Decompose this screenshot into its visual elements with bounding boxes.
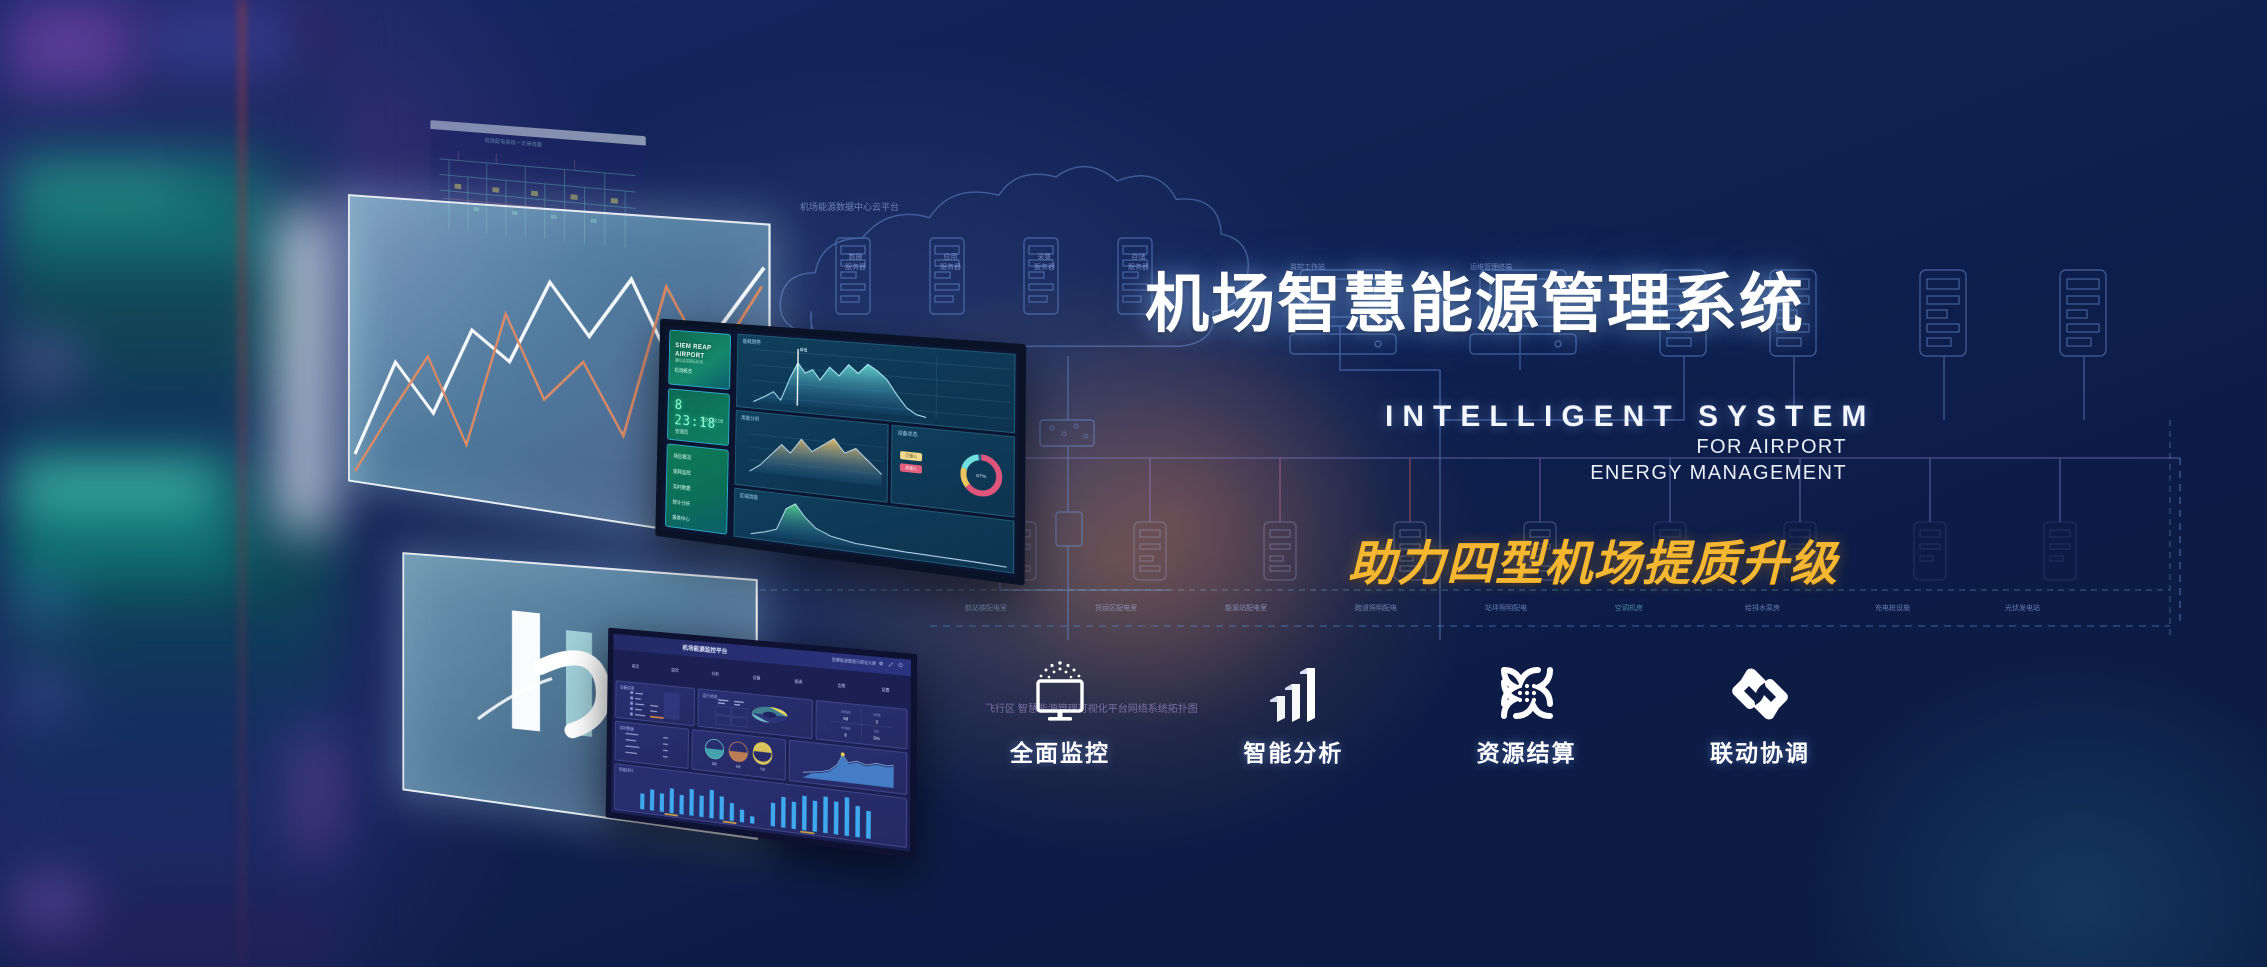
subtitle-english-main: INTELLIGENT SYSTEM: [1385, 400, 1875, 434]
bus-node-label: 跑道照明配电: [1355, 603, 1397, 613]
bar-chart-3d-icon: [1264, 660, 1322, 722]
header-actions-icon[interactable]: ⚙ ⤢ ⏻: [879, 661, 905, 669]
bus-node-label: 航站楼配电室: [965, 603, 1007, 613]
monitor-signal-icon: [1028, 660, 1092, 722]
feature-item-analysis[interactable]: 智能分析: [1193, 660, 1393, 768]
nav-item-0[interactable]: 首页: [632, 663, 639, 669]
brand-section-label: 机场概览: [675, 367, 693, 375]
subtitle-english-line2: FOR AIRPORT: [1696, 436, 1847, 459]
svg-text:同比: 同比: [874, 729, 880, 734]
svg-text:电耗: 电耗: [711, 761, 716, 766]
svg-text:8: 8: [844, 732, 847, 738]
nav-item-5[interactable]: 告警: [838, 683, 846, 690]
nav-item-4[interactable]: 报表: [795, 679, 803, 686]
svg-text:87%: 87%: [977, 472, 987, 479]
chart-panel-usage-analysis: 用能分析: [734, 410, 888, 503]
dashboard-purple-body: 首页 监控 分析 设备 报表 告警 设置 设备信息: [611, 649, 911, 851]
nav-item-2[interactable]: 分析: [712, 671, 720, 678]
svg-text:水耗: 水耗: [735, 764, 740, 769]
dashboard-sidebar: SIEM REAP AIRPORT 暹粒吴哥国际机场 机场概览 8 23:18 …: [661, 326, 734, 540]
card-device-info: 设备信息: [615, 680, 695, 726]
feature-label: 智能分析: [1243, 734, 1343, 768]
nav-item-3[interactable]: 设备: [753, 675, 761, 682]
feature-list: 全面监控 智能分析: [960, 660, 1860, 768]
slogan-text: 助力四型机场提质升级: [1348, 524, 1838, 594]
card-gauges: 电耗水耗气耗: [691, 729, 786, 780]
feature-item-settlement[interactable]: 资源结算: [1427, 660, 1627, 768]
sidebar-brand-card: SIEM REAP AIRPORT 暹粒吴哥国际机场 机场概览: [668, 330, 731, 390]
background-seam: [238, 0, 246, 967]
svg-text:3: 3: [875, 719, 878, 725]
feature-label: 全面监控: [1010, 734, 1110, 768]
svg-text:峰值: 峰值: [800, 347, 808, 353]
network-node-label: 采集 服务器: [1034, 252, 1055, 272]
chart-panel-device-status: 设备状态 已接入 未接入 87%: [891, 425, 1015, 518]
dashboard-screen-teal[interactable]: SIEM REAP AIRPORT 暹粒吴哥国际机场 机场概览 8 23:18 …: [655, 319, 1026, 586]
svg-text:5%: 5%: [873, 735, 880, 741]
card-realtime-list: 实时数据: [615, 721, 689, 769]
bus-node-label: 能源站配电室: [1225, 603, 1267, 613]
purple-header-title: 机场能源监控平台: [682, 643, 727, 656]
four-petal-dots-icon: [1498, 660, 1556, 722]
feature-item-monitoring[interactable]: 全面监控: [960, 660, 1160, 768]
network-cloud-label: 机场能源数据中心云平台: [800, 200, 899, 213]
svg-text:今日能耗: 今日能耗: [841, 725, 852, 730]
brand-subtitle: 暹粒吴哥国际机场: [675, 357, 703, 365]
purple-header-subtitle: 智慧能源管理可视化大屏: [832, 657, 876, 667]
menu-item-2[interactable]: 实时数据: [673, 483, 691, 492]
network-node-label: 应用 服务器: [940, 252, 961, 272]
sidebar-clock-card: 8 23:18 2024.03.08 管理员: [667, 388, 730, 446]
bus-node-label: 空调机房: [1615, 603, 1643, 613]
subtitle-english-line3: ENERGY MANAGEMENT: [1590, 462, 1847, 485]
sidebar-menu[interactable]: 场区概况 能耗监控 实时数据 统计分析 报表中心: [665, 443, 729, 534]
bus-node-label: 货运区配电室: [1095, 603, 1137, 613]
menu-item-0[interactable]: 场区概况: [673, 453, 691, 462]
bus-node-label: 光伏发电站: [2005, 603, 2040, 613]
interlocking-links-icon: [1729, 660, 1791, 722]
dashboard-main-area: 能耗趋势 峰值 用能分析: [731, 331, 1019, 578]
menu-item-3[interactable]: 统计分析: [672, 499, 690, 508]
nav-item-1[interactable]: 监控: [671, 667, 678, 674]
hero-banner: 机场能源数据中心云平台 数据 服务器 应用 服务器 采集 服务器 存储 服务器 …: [0, 0, 2267, 967]
feature-label: 联动协调: [1710, 734, 1810, 768]
bus-node-label: 给排水泵房: [1745, 603, 1780, 613]
current-user-label: 管理员: [675, 428, 688, 436]
card-kpi-grid: 在线设备告警数 今日能耗同比 683 85%: [815, 700, 907, 749]
feature-item-coordination[interactable]: 联动协调: [1660, 660, 1860, 768]
bus-node-label: 站坪照明配电: [1485, 603, 1527, 613]
svg-text:在线设备: 在线设备: [841, 709, 852, 714]
network-node-label: 数据 服务器: [845, 252, 866, 272]
page-title: 机场智慧能源管理系统: [1145, 272, 1805, 336]
svg-text:68: 68: [843, 716, 849, 722]
bus-node-label: 充电桩设施: [1875, 603, 1910, 613]
menu-item-4[interactable]: 报表中心: [672, 514, 690, 523]
feature-label: 资源结算: [1477, 734, 1577, 768]
menu-item-1[interactable]: 能耗监控: [673, 468, 691, 477]
nav-item-6[interactable]: 设置: [881, 687, 889, 694]
svg-text:气耗: 气耗: [759, 767, 765, 772]
svg-text:告警数: 告警数: [873, 712, 881, 717]
background-blurred-app: [0, 0, 340, 967]
